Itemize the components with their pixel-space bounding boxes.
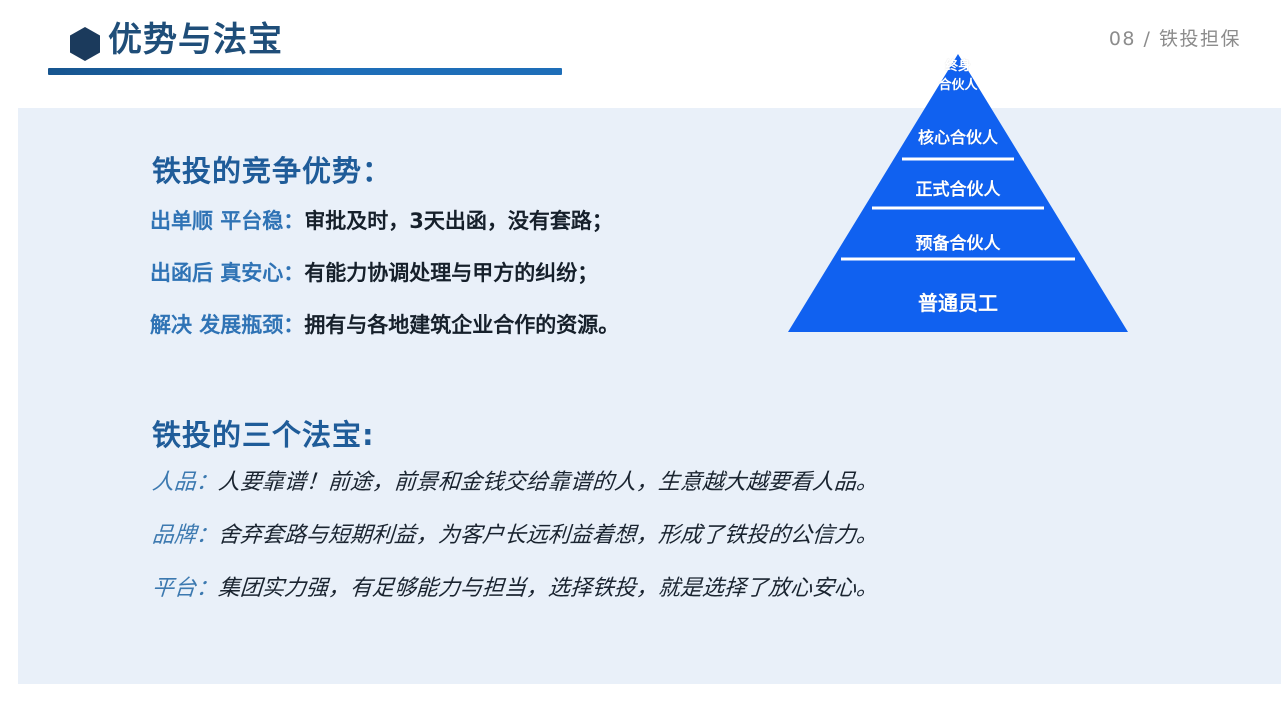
page-number-label: 08 / 铁投担保: [1109, 24, 1241, 51]
tool-row: 人品：人要靠谱！前途，前景和金钱交给靠谱的人，生意越大越要看人品。: [151, 468, 879, 498]
advantage-row: 出函后 真安心：有能力协调处理与甲方的纠纷；: [150, 259, 598, 287]
advantage-label: 出函后 真安心：: [150, 261, 304, 285]
hexagon-icon: [70, 27, 100, 61]
slide-canvas: 优势与法宝 08 / 铁投担保 铁投的竞争优势： 出单顺 平台稳：审批及时，3天…: [0, 0, 1281, 721]
tool-text: 人要靠谱！前途，前景和金钱交给靠谱的人，生意越大越要看人品。: [217, 470, 879, 495]
title-underline: [48, 68, 562, 75]
pyramid-diagram: 终身 合伙人 核心合伙人 正式合伙人 预备合伙人 普通员工: [782, 52, 1134, 336]
advantage-label: 出单顺 平台稳：: [150, 209, 304, 233]
advantage-label: 解决 发展瓶颈：: [150, 313, 304, 337]
advantage-row: 出单顺 平台稳：审批及时，3天出函，没有套路；: [150, 207, 613, 235]
tool-label: 平台：: [151, 576, 219, 601]
tool-row: 品牌：舍弃套路与短期利益，为客户长远利益着想，形成了铁投的公信力。: [151, 521, 879, 551]
page-title: 优势与法宝: [108, 17, 283, 63]
tools-heading: 铁投的三个法宝:: [152, 412, 375, 454]
advantage-row: 解决 发展瓶颈：拥有与各地建筑企业合作的资源。: [150, 311, 619, 339]
tool-label: 品牌：: [151, 523, 219, 548]
tool-text: 舍弃套路与短期利益，为客户长远利益着想，形成了铁投的公信力。: [217, 523, 879, 548]
advantage-text: 有能力协调处理与甲方的纠纷；: [304, 261, 598, 285]
pyramid-svg: [782, 52, 1134, 336]
tool-row: 平台：集团实力强，有足够能力与担当，选择铁投，就是选择了放心安心。: [151, 574, 879, 604]
pyramid-body: [788, 54, 1128, 332]
tool-label: 人品：: [151, 470, 219, 495]
advantage-text: 审批及时，3天出函，没有套路；: [304, 209, 613, 233]
advantage-text: 拥有与各地建筑企业合作的资源。: [304, 313, 619, 337]
advantages-heading: 铁投的竞争优势：: [152, 148, 392, 190]
tool-text: 集团实力强，有足够能力与担当，选择铁投，就是选择了放心安心。: [217, 576, 879, 601]
